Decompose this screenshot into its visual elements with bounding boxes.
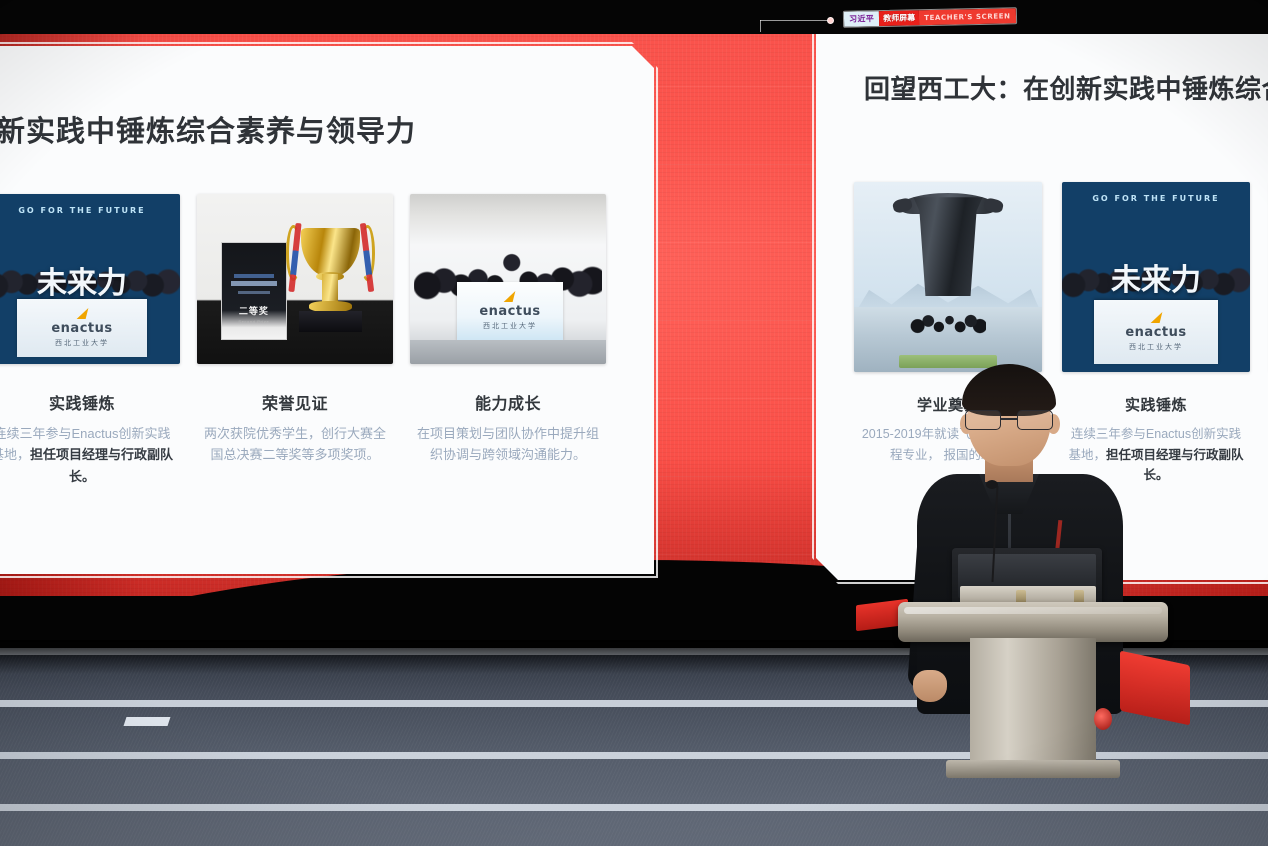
left-card-3-title: 能力成长 <box>475 390 541 414</box>
enactus-arrow-icon <box>1150 312 1162 323</box>
podium-indicator-light <box>1094 708 1112 730</box>
badge-logo-text: 习近平 <box>844 11 880 27</box>
teacher-screen-badge: 习近平 教师屏幕 TEACHER'S SCREEN <box>843 7 1017 28</box>
left-presentation-slide: 创新实践中锤炼综合素养与领导力 GO FOR THE FUTURE 未来力 en… <box>0 46 654 574</box>
trophy-base <box>299 311 362 332</box>
podium-column <box>970 638 1096 764</box>
ding-monument-graduation-photo <box>854 182 1042 372</box>
enactus-brand-text: enactus <box>1125 325 1186 340</box>
cert-prize-cn: 二等奖 <box>239 304 269 317</box>
left-card-1: GO FOR THE FUTURE 未来力 enactus 西北工业大学 实践锤… <box>0 194 180 487</box>
cert-line-2 <box>231 281 278 286</box>
left-card-3-body: 在项目策划与团队协作中提升组织协调与跨领域沟通能力。 <box>410 423 606 466</box>
enactus-brand-text: enactus <box>51 321 112 336</box>
enactus-team-future-banner-photo: GO FOR THE FUTURE 未来力 enactus 西北工业大学 <box>1062 182 1250 372</box>
podium-desktop-highlight <box>904 607 1162 614</box>
enactus-arrow-icon <box>504 291 516 302</box>
speaker-hair <box>962 364 1056 416</box>
photo-floor <box>410 340 606 364</box>
left-slide-card-row: GO FOR THE FUTURE 未来力 enactus 西北工业大学 实践锤… <box>0 194 606 487</box>
banner-node-dot <box>827 17 834 24</box>
award-certificate: 二等奖 Second Prize <box>221 242 288 341</box>
enactus-group-banner-photo: enactus 西北工业大学 <box>410 194 606 364</box>
university-name-text: 西北工业大学 <box>1129 342 1183 352</box>
floor-tape-marker <box>124 717 171 726</box>
trophy-bowl <box>301 228 360 277</box>
glasses-lens-right <box>1017 410 1053 430</box>
photo-lawn <box>899 355 997 368</box>
photo-banner-slogan: GO FOR THE FUTURE <box>1062 190 1250 206</box>
glasses-bridge <box>1001 418 1017 420</box>
enactus-team-future-banner-photo: GO FOR THE FUTURE 未来力 enactus 西北工业大学 <box>0 194 180 364</box>
ceiling-slope <box>0 0 1268 40</box>
cert-line-1 <box>234 274 274 278</box>
banner-connector-line <box>760 20 830 21</box>
glasses-icon <box>963 410 1055 432</box>
photo-enactus-flag: enactus 西北工业大学 <box>17 299 146 357</box>
microphone-icon <box>986 480 998 489</box>
left-card-2-body: 两次获院优秀学生，创行大赛全国总决赛二等奖等多项奖项。 <box>197 423 393 466</box>
gold-trophy-cup <box>289 218 371 340</box>
cert-line-3 <box>238 291 270 294</box>
trophy-and-certificate-photo: 二等奖 Second Prize <box>197 194 393 364</box>
enactus-brand-text: enactus <box>479 304 540 319</box>
photo-enactus-banner: enactus 西北工业大学 <box>457 282 563 340</box>
left-card-2: 二等奖 Second Prize 荣誉见证 <box>197 194 393 487</box>
left-card-3: enactus 西北工业大学 能力成长 在项目策划与团队协作中提升组织协调与跨领… <box>410 194 606 487</box>
badge-chinese-label: 教师屏幕 <box>879 10 919 26</box>
photo-graduates <box>910 300 985 342</box>
glasses-lens-left <box>965 410 1001 430</box>
left-card-2-title: 荣誉见证 <box>262 390 328 414</box>
enactus-arrow-icon <box>76 308 88 319</box>
photo-banner-slogan: GO FOR THE FUTURE <box>0 202 180 218</box>
lectern <box>898 580 1168 846</box>
photo-enactus-flag: enactus 西北工业大学 <box>1094 300 1218 365</box>
cert-prize-en: Second Prize <box>238 319 269 324</box>
stage-scene: 习近平 教师屏幕 TEACHER'S SCREEN 创新实践中锤炼综合素养与领导… <box>0 0 1268 846</box>
badge-english-label: TEACHER'S SCREEN <box>919 8 1016 25</box>
left-card-1-body-part2: 担任项目经理与行政副队长。 <box>30 447 173 483</box>
banner-connector-tick <box>760 20 761 32</box>
podium-base <box>946 760 1120 778</box>
right-slide-title: 回望西工大：在创新实践中锤炼综合 <box>864 69 1268 106</box>
university-name-text: 西北工业大学 <box>55 338 109 348</box>
left-card-1-body: 连续三年参与Enactus创新实践基地，担任项目经理与行政副队长。 <box>0 423 180 487</box>
left-slide-title: 创新实践中锤炼综合素养与领导力 <box>0 108 416 150</box>
left-card-1-title: 实践锤炼 <box>49 390 115 414</box>
university-name-text: 西北工业大学 <box>483 321 537 331</box>
